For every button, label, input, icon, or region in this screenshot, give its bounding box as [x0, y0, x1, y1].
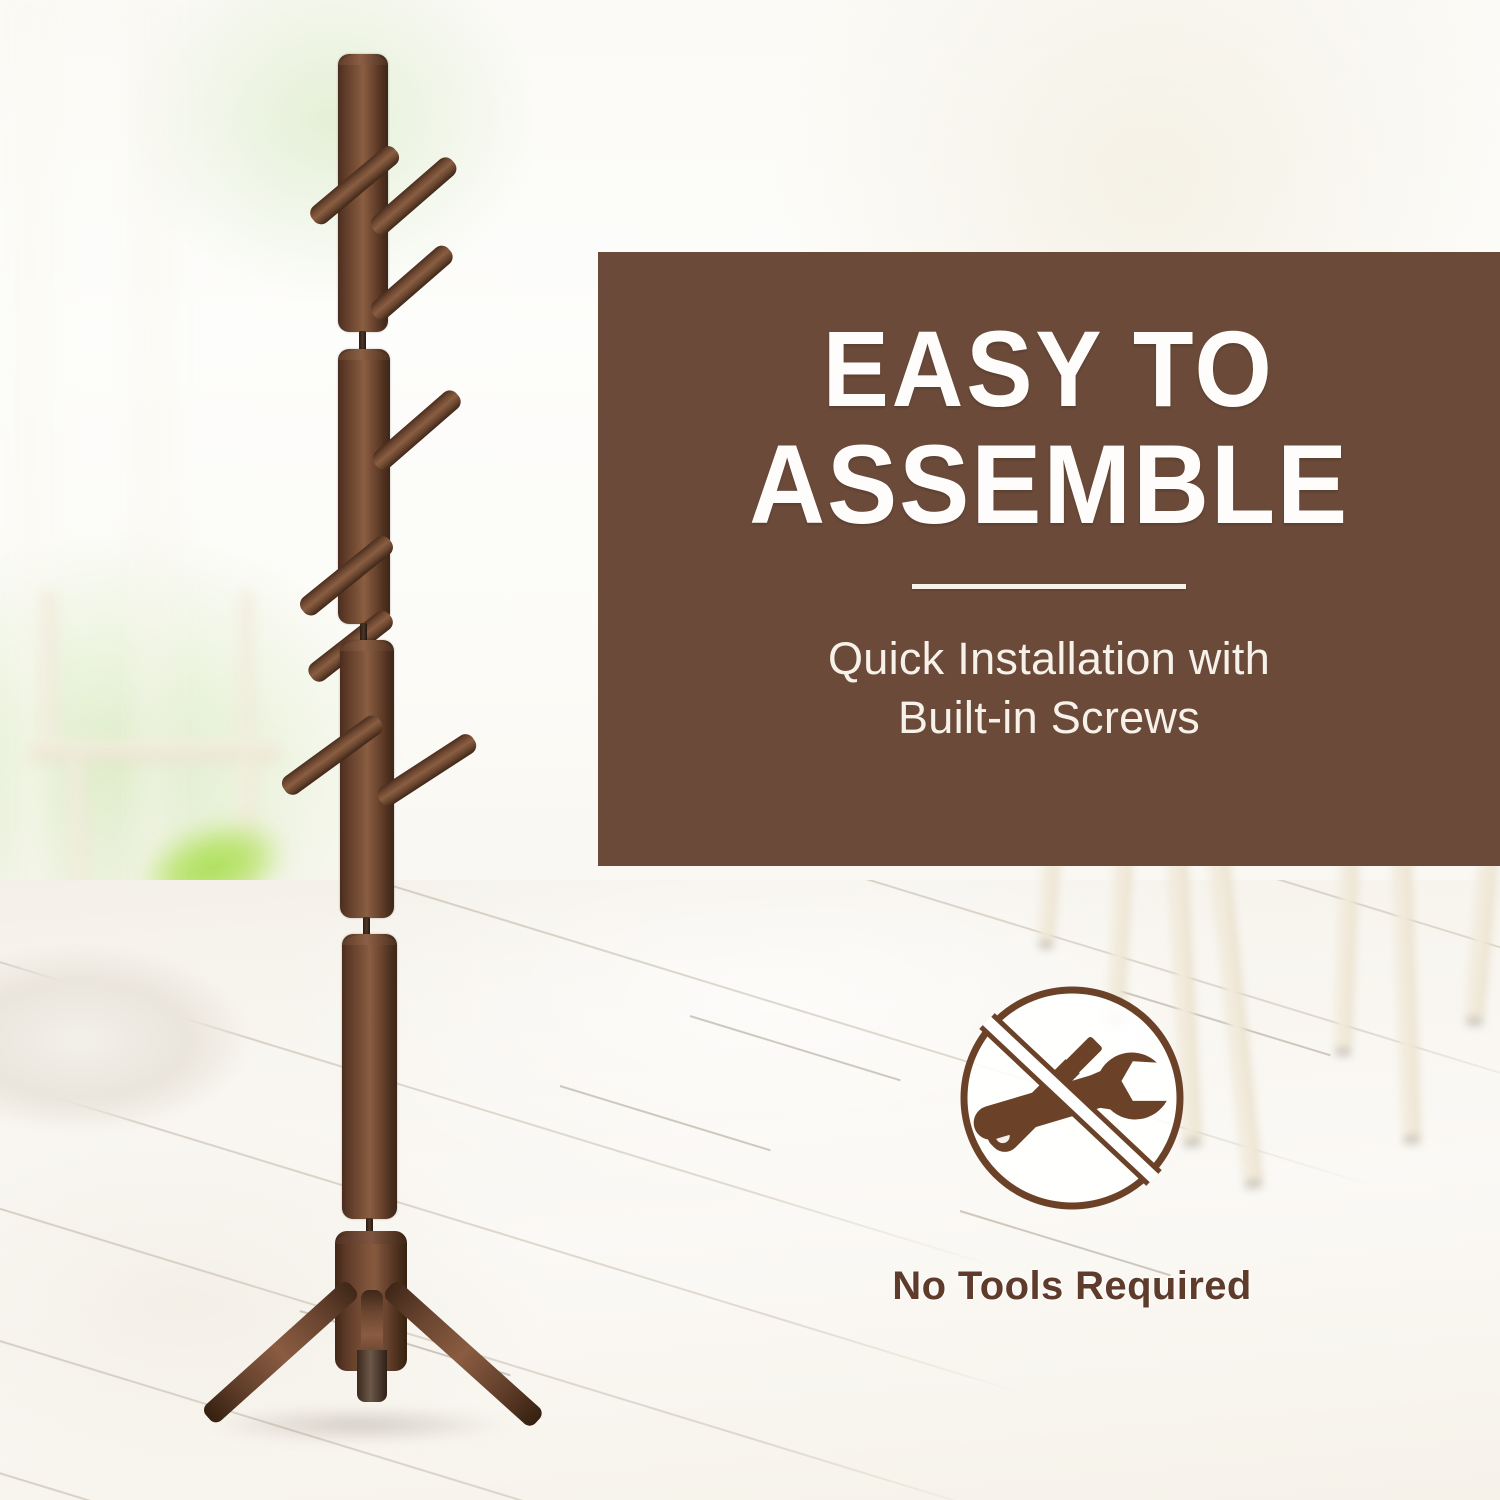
rack-screw-joint-1 [359, 331, 366, 351]
rack-section-middle [340, 640, 394, 918]
no-tools-required-label: No Tools Required [812, 1264, 1332, 1309]
promo-text-panel: EASY TO ASSEMBLE Quick Installation with… [598, 252, 1500, 866]
rack-base-center-stub [357, 1350, 387, 1402]
no-tools-required-icon [957, 983, 1187, 1213]
subline-line-1: Quick Installation with [828, 633, 1270, 684]
rack-section-lower [342, 934, 397, 1219]
marketing-banner: EASY TO ASSEMBLE Quick Installation with… [0, 0, 1500, 1500]
headline-line-2: ASSEMBLE [749, 430, 1349, 540]
headline-line-1: EASY TO [823, 316, 1275, 422]
tree-coat-rack [160, 40, 580, 1460]
subline: Quick Installation with Built-in Screws [828, 629, 1270, 748]
headline-divider [912, 584, 1186, 589]
subline-line-2: Built-in Screws [898, 692, 1200, 743]
